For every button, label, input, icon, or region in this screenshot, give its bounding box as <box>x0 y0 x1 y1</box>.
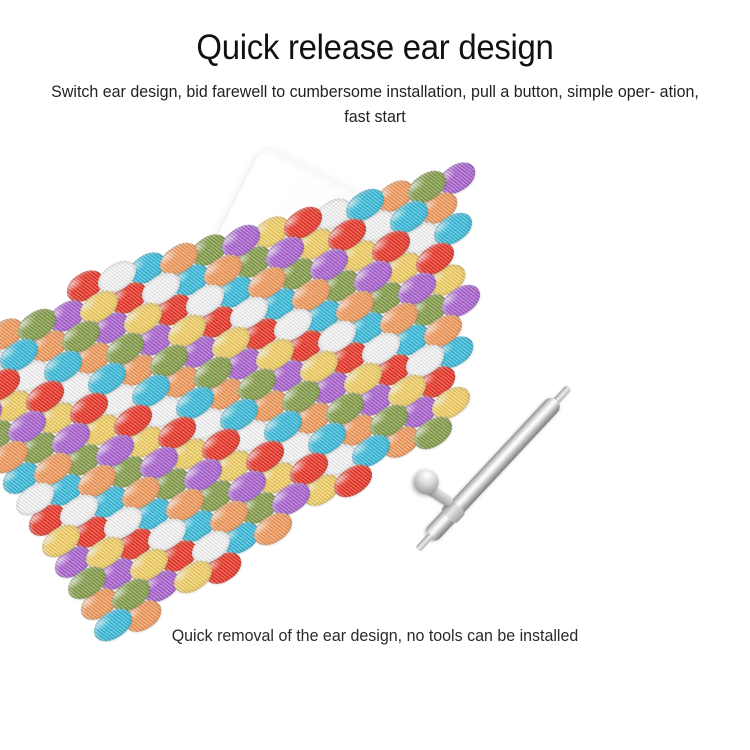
band-weave-segment <box>364 398 413 443</box>
band-weave-segment <box>10 476 59 521</box>
band-weave-segment <box>49 540 97 584</box>
band-weave-segment <box>346 428 395 473</box>
band-weave-segment <box>201 372 249 416</box>
band-weave-segment <box>217 516 265 560</box>
band-weave-segment <box>38 344 87 389</box>
band-weave-segment <box>0 434 34 479</box>
quick-release-spring-bar-pin <box>529 392 719 572</box>
band-weave-segment <box>186 524 235 569</box>
spring-bar-assembly <box>422 381 684 642</box>
band-weave-segment <box>173 504 221 548</box>
band-weave-segment <box>28 446 77 491</box>
band-weave-segment <box>20 374 69 419</box>
spring-bar-shaft <box>422 395 563 544</box>
band-weave-segment <box>105 276 153 320</box>
band-weave-segment <box>121 420 169 464</box>
band-weave-segment <box>157 360 205 404</box>
band-weave-segment <box>199 546 247 590</box>
band-weave-segment <box>69 336 117 380</box>
band-weave-segment <box>0 332 44 377</box>
band-weave-segment <box>46 416 95 461</box>
band-weave-segment <box>402 164 451 209</box>
band-weave-segment <box>418 308 467 353</box>
band-weave-segment <box>41 468 89 512</box>
band-weave-segment <box>191 474 239 518</box>
band-weave-segment <box>415 186 463 230</box>
band-weave-segment <box>170 380 219 425</box>
band-weave-segment <box>209 444 257 488</box>
band-weave-segment <box>155 534 203 578</box>
band-weave-segment <box>75 582 123 626</box>
band-weave-segment <box>0 392 8 437</box>
band-weave-segment <box>328 458 377 503</box>
band-weave-segment <box>93 552 141 596</box>
band-weave-segment <box>387 318 435 362</box>
band-weave-segment <box>106 572 155 617</box>
band-weave-segment <box>284 446 333 491</box>
band-weave-segment <box>413 360 461 404</box>
band-weave-segment <box>92 254 141 299</box>
band-weave-segment <box>227 414 275 458</box>
band-weave-segment <box>377 420 425 464</box>
band-weave-segment <box>183 402 231 446</box>
band-weave-segment <box>90 428 139 473</box>
band-weave-segment <box>168 554 217 599</box>
band-weave-segment <box>235 486 283 530</box>
band-weave-segment <box>405 288 453 332</box>
band-weave-segment <box>139 390 187 434</box>
page-title: Quick release ear design <box>23 28 728 68</box>
band-weave-segment <box>222 464 271 509</box>
band-weave-segment <box>382 368 431 413</box>
band-weave-segment <box>196 422 245 467</box>
band-weave-segment <box>134 440 183 485</box>
spring-bar-tip-bottom <box>415 533 434 552</box>
band-weave-segment <box>428 206 477 251</box>
band-weave-segment <box>103 450 151 494</box>
band-weave-segment <box>12 302 61 347</box>
band-weave-segment <box>431 330 479 374</box>
band-weave-segment <box>82 356 131 401</box>
white-quick-release-connector <box>168 145 438 421</box>
band-weave-segment <box>59 438 107 482</box>
band-weave-segment <box>423 258 471 302</box>
band-weave-segment <box>23 498 71 542</box>
band-weave-segment <box>436 278 485 323</box>
band-weave-segment <box>7 354 55 398</box>
band-weave-segment <box>43 294 91 338</box>
subtitle-block: Switch ear design, bid farewell to cumbe… <box>38 80 711 130</box>
band-weave-segment <box>15 426 63 470</box>
footer-caption: Quick removal of the ear design, no tool… <box>11 627 739 646</box>
band-weave-segment <box>126 368 175 413</box>
band-weave-segment <box>72 458 121 503</box>
band-weave-segment <box>204 494 253 539</box>
band-weave-segment <box>33 396 81 440</box>
band-weave-segment <box>62 560 111 605</box>
band-weave-segment <box>0 456 45 500</box>
band-weave-segment <box>433 156 481 200</box>
band-weave-segment <box>56 314 105 359</box>
band-weave-segment <box>54 488 103 533</box>
band-weave-segment <box>258 404 307 449</box>
band-weave-segment <box>111 522 159 566</box>
subtitle-line-1: Switch ear design, bid farewell to cumbe… <box>51 83 655 101</box>
band-weave-segment <box>67 510 115 554</box>
band-weave-segment <box>36 518 85 563</box>
band-weave-segment <box>74 284 123 329</box>
band-weave-segment <box>136 266 185 311</box>
band-weave-segment <box>98 500 147 545</box>
band-weave-segment <box>116 470 165 515</box>
band-weave-segment <box>77 408 125 452</box>
band-weave-segment <box>0 384 37 428</box>
band-weave-segment <box>178 452 227 497</box>
band-weave-segment <box>0 362 26 407</box>
band-weave-segment <box>100 326 149 371</box>
band-weave-segment <box>95 378 143 422</box>
band-weave-segment <box>144 338 193 383</box>
band-weave-segment <box>2 404 51 449</box>
band-weave-segment <box>160 482 209 527</box>
band-weave-segment <box>426 380 475 425</box>
band-weave-segment <box>124 542 173 587</box>
band-weave-segment <box>85 480 133 524</box>
band-weave-segment <box>142 512 191 557</box>
band-weave-segment <box>152 410 201 455</box>
band-weave-segment <box>147 462 195 506</box>
band-weave-segment <box>123 246 171 290</box>
band-weave-segment <box>87 306 135 350</box>
band-weave-segment <box>129 492 177 536</box>
band-weave-segment <box>118 296 167 341</box>
band-weave-segment <box>137 564 185 608</box>
band-weave-segment <box>297 468 345 512</box>
band-weave-segment <box>61 264 109 308</box>
product-feature-image: Quick release ear design Switch ear desi… <box>0 0 750 750</box>
band-weave-segment <box>64 386 113 431</box>
band-weave-segment <box>395 390 443 434</box>
band-weave-segment <box>302 416 351 461</box>
band-weave-segment <box>0 414 19 458</box>
band-weave-segment <box>253 456 301 500</box>
band-weave-segment <box>266 476 315 521</box>
band-weave-segment <box>25 324 73 368</box>
band-weave-segment <box>51 366 99 410</box>
band-weave-segment <box>408 410 457 455</box>
band-weave-segment <box>315 438 363 482</box>
band-weave-segment <box>214 392 263 437</box>
band-weave-segment <box>0 312 29 356</box>
band-weave-segment <box>240 434 289 479</box>
band-weave-segment <box>108 398 157 443</box>
band-weave-segment <box>80 530 129 575</box>
band-weave-segment <box>113 348 161 392</box>
band-weave-segment <box>0 342 11 386</box>
band-weave-segment <box>400 338 449 383</box>
band-weave-segment <box>271 426 319 470</box>
band-weave-segment <box>248 506 297 551</box>
band-weave-segment <box>165 432 213 476</box>
